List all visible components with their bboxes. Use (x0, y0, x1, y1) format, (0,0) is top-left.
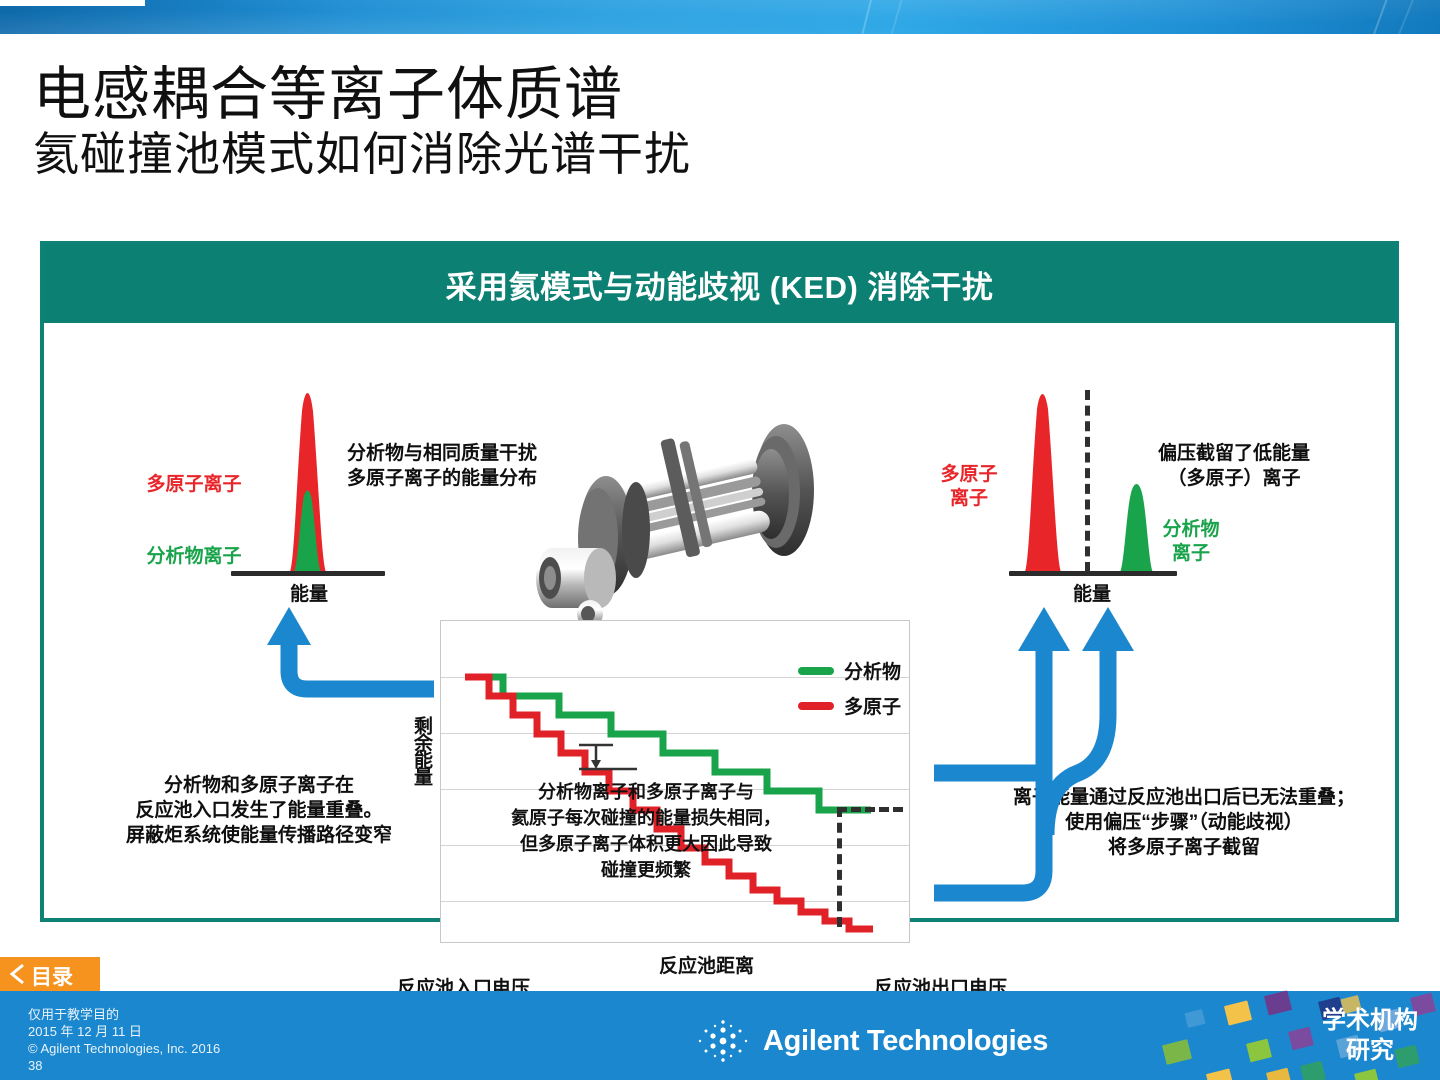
academic-label: 学术机构 研究 (1322, 1006, 1418, 1066)
legend-label-analyte: 分析物 (844, 657, 901, 684)
arrow-left-to-peak (249, 601, 439, 701)
legend-label-polyatomic: 多原子 (844, 692, 901, 719)
mosaic-square (1224, 1000, 1252, 1025)
energy-chart: 分析物 多原子 分析物离子和多原子离子与 氦原子每次碰撞的能量损失相同， 但多原… (440, 620, 910, 943)
label-analyte-left: 分析物离子 (124, 545, 264, 569)
bias-threshold-dashed-line (1085, 390, 1090, 572)
legend-swatch-analyte (798, 667, 834, 675)
legend-item-analyte: 分析物 (798, 657, 901, 684)
collision-cell-image (484, 418, 864, 628)
footer-line-1: 仅用于教学目的 (28, 1006, 220, 1023)
exit-bias-dashed-box-top (837, 807, 903, 812)
label-polyatomic-left: 多原子离子 (124, 473, 264, 497)
right-panel-note: 偏压截留了低能量 （多原子）离子 (1104, 441, 1364, 491)
academic-line-2: 研究 (1322, 1036, 1418, 1066)
mosaic-square (1162, 1039, 1192, 1065)
header-notch (0, 0, 145, 6)
figure-body: 能量 多原子离子 分析物离子 分析物与相同质量干扰 多原子离子的能量分布 (44, 323, 1395, 918)
mosaic-square (1246, 1039, 1272, 1063)
footer-meta: 仅用于教学目的 2015 年 12 月 11 日 © Agilent Techn… (28, 1006, 220, 1074)
agilent-brand-text: Agilent Technologies (763, 1025, 1048, 1058)
mosaic-square (1206, 1068, 1234, 1080)
slide: 电感耦合等离子体质谱 氦碰撞池模式如何消除光谱干扰 采用氦模式与动能歧视 (KE… (0, 0, 1440, 1080)
legend-swatch-polyatomic (798, 702, 834, 710)
arrow-right-to-peak (1044, 595, 1184, 855)
label-analyte-right: 分析物 离子 (1136, 518, 1246, 566)
header-gradient-wash (0, 0, 1440, 34)
left-overlap-note: 分析物和多原子离子在 反应池入口发生了能量重叠。 屏蔽炬系统使能量传播路径变窄 (109, 773, 409, 848)
header-banner (0, 0, 1440, 34)
page-title: 电感耦合等离子体质谱 (33, 62, 1133, 128)
right-peak-baseline (1009, 571, 1177, 576)
agilent-spark-icon (697, 1017, 749, 1065)
academic-line-1: 学术机构 (1322, 1006, 1418, 1036)
toc-label[interactable]: 目录 (31, 961, 73, 991)
figure-title: 采用氦模式与动能歧视 (KED) 消除干扰 (44, 245, 1395, 323)
agilent-logo: Agilent Technologies (697, 1017, 1048, 1065)
mosaic-square (1354, 1069, 1380, 1080)
legend-item-polyatomic: 多原子 (798, 692, 901, 719)
mosaic-square (1184, 1009, 1205, 1028)
chart-legend: 分析物 多原子 (798, 657, 901, 727)
exit-bias-dashed-box-left (837, 807, 842, 927)
mosaic-square (1266, 1068, 1292, 1080)
page-subtitle: 氦碰撞池模式如何消除光谱干扰 (33, 126, 1133, 182)
footer-page-number: 38 (28, 1057, 220, 1074)
label-polyatomic-right: 多原子 离子 (914, 463, 1024, 511)
chart-center-note: 分析物离子和多原子离子与 氦原子每次碰撞的能量损失相同， 但多原子离子体积更大因… (481, 779, 811, 883)
footer-line-2: 2015 年 12 月 11 日 (28, 1023, 220, 1040)
title-block: 电感耦合等离子体质谱 氦碰撞池模式如何消除光谱干扰 (33, 62, 1133, 182)
mosaic-square (1264, 990, 1292, 1015)
figure-container: 采用氦模式与动能歧视 (KED) 消除干扰 能量 多原子离子 分析物离子 分析物… (40, 241, 1399, 922)
chart-x-axis-label: 反应池距离 (659, 951, 754, 978)
mosaic-square (1288, 1027, 1314, 1051)
chart-y-axis-label: 剩余能量 (408, 716, 435, 784)
left-peak-panel: 能量 (184, 393, 474, 623)
chevron-left-icon[interactable] (6, 962, 30, 986)
left-peak-baseline (231, 571, 385, 576)
footer-line-3: © Agilent Technologies, Inc. 2016 (28, 1040, 220, 1057)
